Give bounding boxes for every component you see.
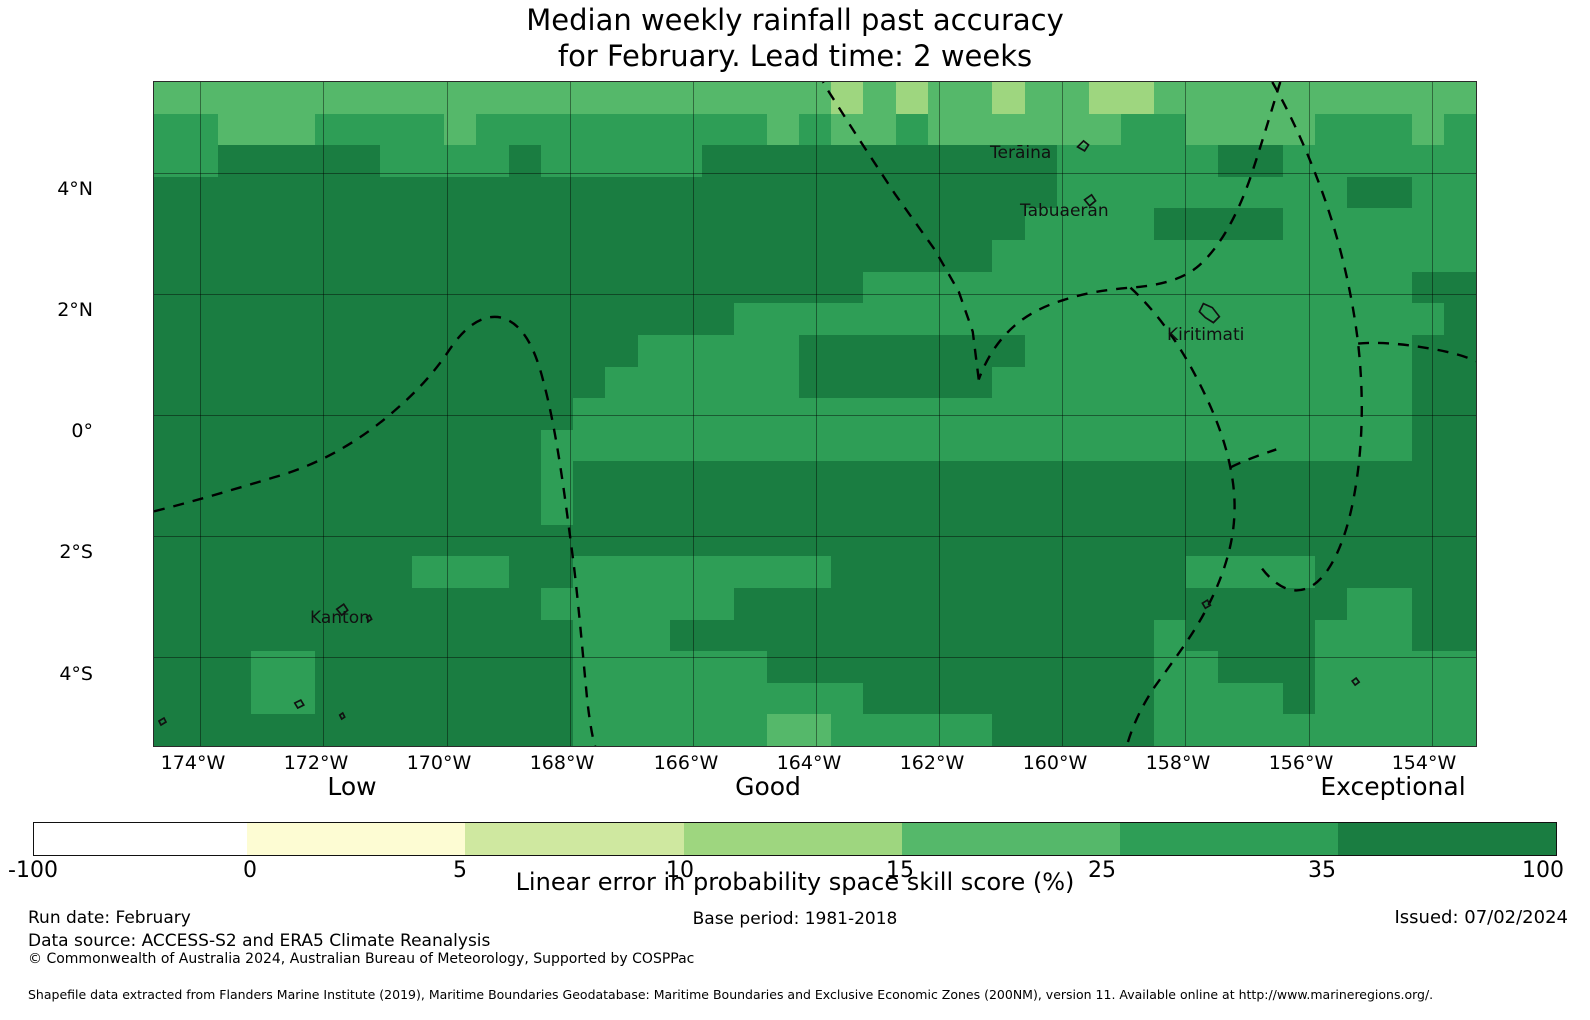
heatmap-cell [1121, 683, 1153, 715]
heatmap-cell [412, 398, 444, 430]
heatmap-cell [1057, 303, 1089, 335]
heatmap-cell [670, 145, 702, 177]
heatmap-cell [928, 367, 960, 399]
heatmap-cell [509, 714, 541, 746]
heatmap-cell [315, 556, 347, 588]
heatmap-cell [412, 588, 444, 620]
heatmap-cell [1347, 683, 1379, 715]
heatmap-cell [1186, 714, 1218, 746]
heatmap-cell [444, 208, 476, 240]
heatmap-cell [1057, 525, 1089, 557]
heatmap-cell [1057, 82, 1089, 114]
heatmap-cell [767, 461, 799, 493]
heatmap-cell [380, 114, 412, 146]
heatmap-cell [1218, 208, 1250, 240]
heatmap-cell [1347, 714, 1379, 746]
heatmap-cell [734, 177, 766, 209]
heatmap-cell [283, 145, 315, 177]
heatmap-cell [1283, 335, 1315, 367]
heatmap-cell [896, 651, 928, 683]
heatmap-cell [1444, 177, 1476, 209]
heatmap-cell [863, 651, 895, 683]
heatmap-cell [154, 588, 186, 620]
heatmap-cell [1089, 620, 1121, 652]
heatmap-cell [283, 493, 315, 525]
heatmap-cell [670, 556, 702, 588]
heatmap-cell [412, 556, 444, 588]
heatmap-cell [154, 556, 186, 588]
heatmap-cell [1089, 556, 1121, 588]
heatmap-cell [605, 303, 637, 335]
heatmap-cell [1186, 493, 1218, 525]
heatmap-cell [831, 303, 863, 335]
heatmap-cell [154, 430, 186, 462]
heatmap-cell [831, 651, 863, 683]
heatmap-cell [573, 525, 605, 557]
x-tick-162W: 162°W [872, 752, 992, 774]
heatmap-cell [283, 683, 315, 715]
heatmap-cell [702, 303, 734, 335]
heatmap-cell [702, 177, 734, 209]
heatmap-cell [1250, 145, 1282, 177]
heatmap-cell [1283, 208, 1315, 240]
heatmap-cell [1379, 683, 1411, 715]
heatmap-cell [186, 240, 218, 272]
heatmap-cell [670, 272, 702, 304]
colorbar-segment [902, 823, 1120, 855]
heatmap-cell [283, 303, 315, 335]
heatmap-cell [1283, 367, 1315, 399]
heatmap-cell [928, 398, 960, 430]
heatmap-cell [1218, 430, 1250, 462]
heatmap-cell [1186, 208, 1218, 240]
heatmap-cell [896, 525, 928, 557]
heatmap-cell [1250, 588, 1282, 620]
heatmap-cell [218, 240, 250, 272]
heatmap-cell [831, 335, 863, 367]
heatmap-cell [154, 525, 186, 557]
heatmap-cell [1057, 714, 1089, 746]
heatmap-cell [283, 272, 315, 304]
heatmap-cell [509, 620, 541, 652]
heatmap-cell [799, 714, 831, 746]
heatmap-cell [960, 114, 992, 146]
heatmap-cell [960, 430, 992, 462]
heatmap-cell [734, 430, 766, 462]
heatmap-cell [1412, 240, 1444, 272]
heatmap-cell [863, 461, 895, 493]
heatmap-cell [509, 114, 541, 146]
heatmap-cell [831, 82, 863, 114]
heatmap-cell [1444, 556, 1476, 588]
y-tick-4S: 4°S [0, 663, 93, 685]
heatmap-cell [1121, 145, 1153, 177]
heatmap-cell [960, 367, 992, 399]
heatmap-cell [928, 683, 960, 715]
heatmap-cell [347, 493, 379, 525]
heatmap-cell [928, 335, 960, 367]
heatmap-cell [734, 683, 766, 715]
heatmap-cell [702, 461, 734, 493]
heatmap-cell [315, 493, 347, 525]
heatmap-cell [1250, 272, 1282, 304]
heatmap-cell [638, 367, 670, 399]
heatmap-cell [734, 145, 766, 177]
heatmap-cell [605, 208, 637, 240]
heatmap-cell [638, 430, 670, 462]
heatmap-cell [347, 683, 379, 715]
heatmap-cell [670, 493, 702, 525]
heatmap-cell [928, 114, 960, 146]
heatmap-cell [1121, 82, 1153, 114]
heatmap-cell [863, 82, 895, 114]
heatmap-cell [992, 556, 1024, 588]
heatmap-cell [670, 398, 702, 430]
heatmap-cell [412, 208, 444, 240]
heatmap-cell [1057, 272, 1089, 304]
heatmap-cell [315, 461, 347, 493]
heatmap-cell [1315, 588, 1347, 620]
heatmap-cell [1444, 367, 1476, 399]
heatmap-cell [1315, 240, 1347, 272]
heatmap-cell [767, 177, 799, 209]
heatmap-cell [315, 525, 347, 557]
heatmap-cell [1347, 493, 1379, 525]
heatmap-cell [444, 430, 476, 462]
heatmap-cell [412, 82, 444, 114]
heatmap-cell [702, 272, 734, 304]
heatmap-cell [1412, 272, 1444, 304]
heatmap-cell [154, 208, 186, 240]
colorbar-category-exceptional: Exceptional [1243, 772, 1543, 801]
heatmap-cell [251, 683, 283, 715]
heatmap-cell [1186, 683, 1218, 715]
heatmap-cell [799, 177, 831, 209]
heatmap-cell [251, 82, 283, 114]
heatmap-cell [1412, 493, 1444, 525]
heatmap-cell [154, 272, 186, 304]
heatmap-cell [1154, 114, 1186, 146]
heatmap-cell [638, 272, 670, 304]
heatmap-cell [1218, 588, 1250, 620]
heatmap-cell [1186, 620, 1218, 652]
heatmap-cell [670, 82, 702, 114]
heatmap-cell [251, 651, 283, 683]
heatmap-cell [380, 367, 412, 399]
heatmap-cell [960, 398, 992, 430]
heatmap-cell [251, 620, 283, 652]
heatmap-cell [638, 177, 670, 209]
heatmap-cell [767, 525, 799, 557]
heatmap-cell [1283, 493, 1315, 525]
heatmap-cell [573, 588, 605, 620]
heatmap-cell [218, 683, 250, 715]
heatmap-cell [1218, 461, 1250, 493]
heatmap-cell [1347, 398, 1379, 430]
heatmap-cell [863, 430, 895, 462]
heatmap-cell [412, 145, 444, 177]
x-tick-158W: 158°W [1118, 752, 1238, 774]
heatmap-cell [1154, 82, 1186, 114]
heatmap-cell [1089, 335, 1121, 367]
heatmap-cell [509, 208, 541, 240]
heatmap-cell [315, 335, 347, 367]
heatmap-cell [315, 145, 347, 177]
heatmap-cell [896, 588, 928, 620]
y-tick-4N: 4°N [0, 178, 93, 200]
heatmap-cell [1379, 651, 1411, 683]
heatmap-cell [670, 430, 702, 462]
heatmap-cell [1218, 398, 1250, 430]
heatmap-cell [605, 556, 637, 588]
heatmap-cell [1025, 714, 1057, 746]
heatmap-cell [863, 303, 895, 335]
heatmap-cell [154, 114, 186, 146]
heatmap-cell [799, 683, 831, 715]
heatmap-cell [1283, 556, 1315, 588]
heatmap-cell [1218, 651, 1250, 683]
heatmap-cell [541, 683, 573, 715]
heatmap-cell [251, 335, 283, 367]
map-plot-area[interactable] [153, 81, 1477, 747]
heatmap-cell [1154, 525, 1186, 557]
heatmap-cell [1315, 335, 1347, 367]
heatmap-cell [154, 493, 186, 525]
heatmap-cell [863, 240, 895, 272]
heatmap-cell [1186, 240, 1218, 272]
heatmap-cell [541, 303, 573, 335]
heatmap-cell [509, 177, 541, 209]
heatmap-cell [992, 398, 1024, 430]
heatmap-cell [605, 335, 637, 367]
heatmap-cell [412, 335, 444, 367]
heatmap-cell [1121, 208, 1153, 240]
heatmap-cell [1347, 177, 1379, 209]
colorbar-segment [465, 823, 683, 855]
heatmap-cell [1250, 430, 1282, 462]
heatmap-cell [315, 714, 347, 746]
heatmap-cell [347, 303, 379, 335]
colorbar[interactable] [33, 822, 1557, 856]
heatmap-cell [767, 651, 799, 683]
island-label-teraina: Terāina [990, 143, 1051, 163]
heatmap-cell [734, 525, 766, 557]
heatmap-cell [734, 335, 766, 367]
heatmap-cell [315, 208, 347, 240]
heatmap-cell [1250, 398, 1282, 430]
heatmap-cell [1444, 683, 1476, 715]
heatmap-cell [218, 461, 250, 493]
heatmap-cell [218, 588, 250, 620]
heatmap-cell [573, 556, 605, 588]
heatmap-cell [799, 430, 831, 462]
heatmap-cell [573, 398, 605, 430]
heatmap-cell [380, 240, 412, 272]
heatmap-cell [1379, 82, 1411, 114]
heatmap-cell [1379, 430, 1411, 462]
heatmap-cell [767, 588, 799, 620]
heatmap-cell [960, 493, 992, 525]
heatmap-cell [702, 493, 734, 525]
heatmap-cell [315, 651, 347, 683]
heatmap-cell [573, 461, 605, 493]
heatmap-cell [638, 620, 670, 652]
heatmap-cell [1250, 82, 1282, 114]
heatmap-cell [960, 620, 992, 652]
heatmap-cell [1412, 335, 1444, 367]
heatmap-cell [1412, 683, 1444, 715]
heatmap-cell [573, 367, 605, 399]
heatmap-cell [315, 430, 347, 462]
heatmap-cell [702, 525, 734, 557]
heatmap-cell [476, 493, 508, 525]
heatmap-cell [444, 556, 476, 588]
heatmap-cell [541, 430, 573, 462]
heatmap-cell [541, 620, 573, 652]
heatmap-cell [251, 588, 283, 620]
heatmap-cell [1250, 177, 1282, 209]
heatmap-cell [1186, 525, 1218, 557]
heatmap-cell [573, 114, 605, 146]
footer-base-period: Base period: 1981-2018 [0, 909, 1590, 929]
heatmap-cell [928, 651, 960, 683]
y-tick-0: 0° [0, 420, 93, 442]
heatmap-cell [218, 493, 250, 525]
heatmap-cell [1250, 114, 1282, 146]
heatmap-cell [992, 588, 1024, 620]
heatmap-cell [186, 651, 218, 683]
heatmap-cell [1057, 240, 1089, 272]
heatmap-cell [638, 303, 670, 335]
heatmap-cell [509, 588, 541, 620]
heatmap-cell [347, 461, 379, 493]
heatmap-cell [347, 177, 379, 209]
heatmap-cell [1315, 556, 1347, 588]
heatmap-cell [767, 620, 799, 652]
heatmap-cell [638, 114, 670, 146]
heatmap-cell [541, 114, 573, 146]
heatmap-cell [734, 588, 766, 620]
heatmap-cell [960, 588, 992, 620]
heatmap-cell [767, 240, 799, 272]
island-label-tabuaeran: Tabuaeran [1020, 201, 1109, 221]
heatmap-cell [380, 272, 412, 304]
heatmap-cell [1121, 620, 1153, 652]
footer-copyright: © Commonwealth of Australia 2024, Austra… [28, 951, 694, 967]
heatmap-cell [960, 208, 992, 240]
heatmap-cell [444, 335, 476, 367]
heatmap-cell [444, 525, 476, 557]
heatmap-cell [476, 430, 508, 462]
heatmap-cell [605, 588, 637, 620]
colorbar-category-low: Low [202, 772, 502, 801]
heatmap-cell [380, 683, 412, 715]
heatmap-cell [444, 367, 476, 399]
heatmap-cell [347, 82, 379, 114]
heatmap-cell [218, 525, 250, 557]
heatmap-cell [283, 714, 315, 746]
heatmap-cell [831, 556, 863, 588]
heatmap-cell [896, 493, 928, 525]
heatmap-cell [476, 208, 508, 240]
heatmap-cell [251, 493, 283, 525]
heatmap-cell [767, 493, 799, 525]
heatmap-cell [1347, 588, 1379, 620]
heatmap-cell [1057, 367, 1089, 399]
heatmap-cell [605, 177, 637, 209]
heatmap-cell [1283, 398, 1315, 430]
heatmap-cell [218, 556, 250, 588]
heatmap-cell [1379, 556, 1411, 588]
heatmap-cell [1283, 240, 1315, 272]
heatmap-cell [154, 461, 186, 493]
heatmap-cell [605, 683, 637, 715]
heatmap-cell [1154, 208, 1186, 240]
heatmap-cell [218, 430, 250, 462]
heatmap-cell [831, 177, 863, 209]
heatmap-cell [831, 461, 863, 493]
heatmap-cell [896, 335, 928, 367]
heatmap-cell [476, 588, 508, 620]
heatmap-cell [1444, 461, 1476, 493]
heatmap-cell [605, 493, 637, 525]
heatmap-cell [1444, 272, 1476, 304]
heatmap-cell [444, 82, 476, 114]
heatmap-cell [1347, 651, 1379, 683]
heatmap-cell [896, 303, 928, 335]
heatmap-cell [831, 493, 863, 525]
heatmap-cell [186, 398, 218, 430]
heatmap-cell [1218, 82, 1250, 114]
heatmap-cell [1154, 683, 1186, 715]
heatmap-cell [1186, 82, 1218, 114]
heatmap-cell [799, 145, 831, 177]
heatmap-cell [1283, 82, 1315, 114]
heatmap-cell [1121, 114, 1153, 146]
heatmap-cell [186, 620, 218, 652]
heatmap-cell [896, 430, 928, 462]
heatmap-cell [1283, 114, 1315, 146]
heatmap-cell [670, 525, 702, 557]
heatmap-cell [799, 525, 831, 557]
heatmap-cell [573, 240, 605, 272]
heatmap-cell [1444, 651, 1476, 683]
heatmap-cell [734, 493, 766, 525]
heatmap-cell [186, 145, 218, 177]
heatmap-cell [1444, 240, 1476, 272]
heatmap-cell [638, 714, 670, 746]
heatmap-cell [476, 461, 508, 493]
heatmap-cell [1315, 651, 1347, 683]
heatmap-cell [541, 651, 573, 683]
heatmap-cell [831, 272, 863, 304]
heatmap-cell [1025, 588, 1057, 620]
heatmap-cell [992, 367, 1024, 399]
heatmap-cell [1283, 303, 1315, 335]
heatmap-cell [702, 145, 734, 177]
heatmap-cell [702, 240, 734, 272]
heatmap-cell [605, 240, 637, 272]
heatmap-cell [702, 398, 734, 430]
heatmap-cell [251, 525, 283, 557]
heatmap-cell [509, 240, 541, 272]
heatmap-cell [799, 588, 831, 620]
heatmap-cell [154, 714, 186, 746]
heatmap-cell [1186, 398, 1218, 430]
heatmap-cell [154, 303, 186, 335]
heatmap-cell [734, 272, 766, 304]
heatmap-cell [1412, 367, 1444, 399]
